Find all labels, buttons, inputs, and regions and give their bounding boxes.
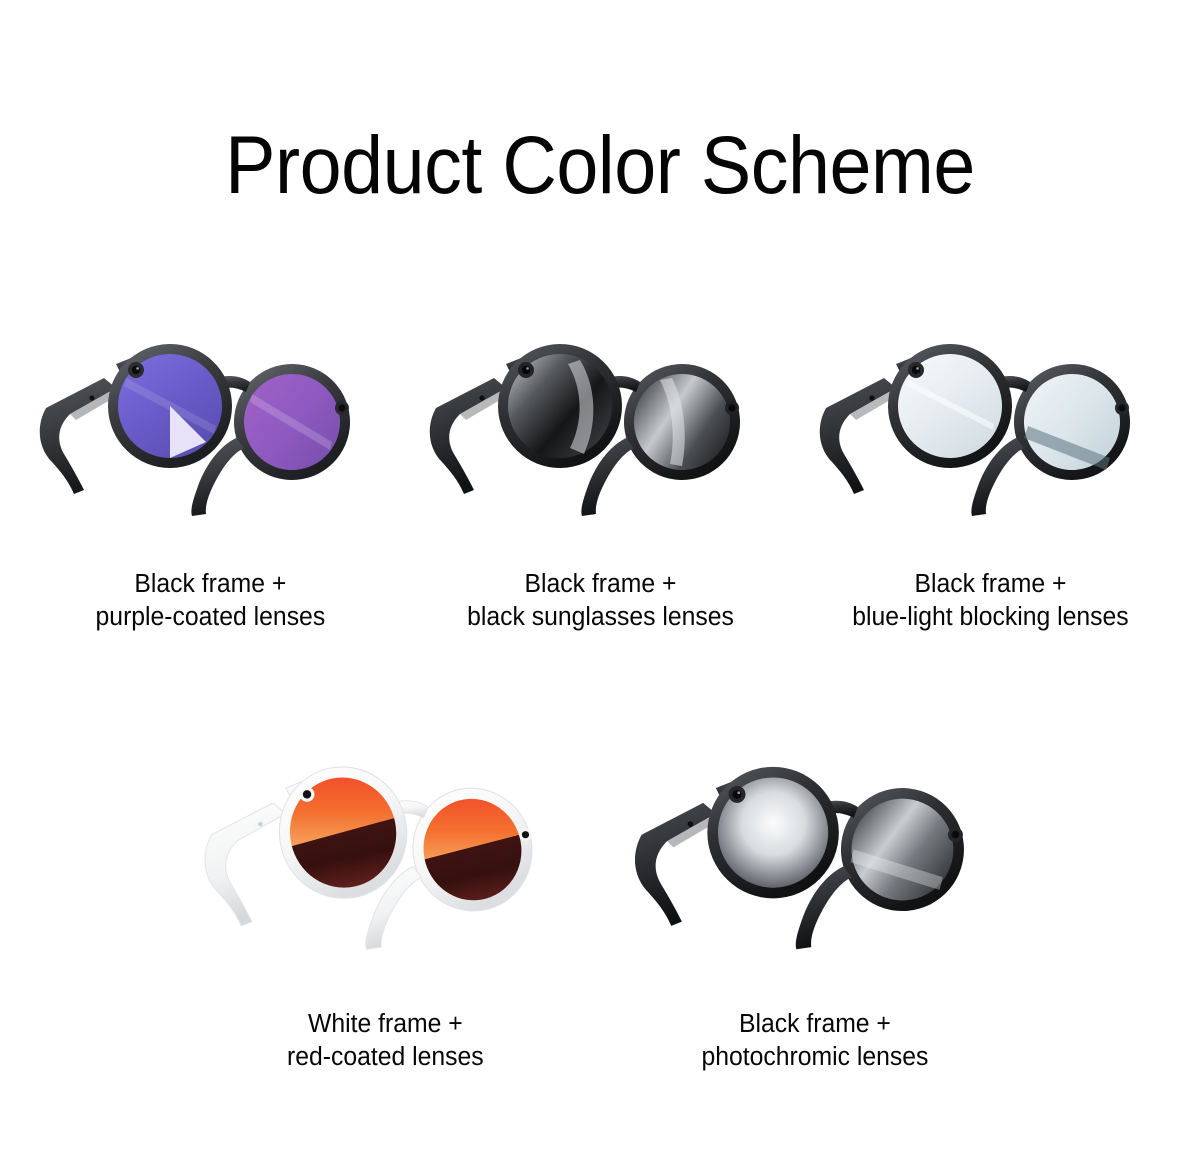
product-row-top: Black frame + purple-coated lenses — [0, 330, 1200, 633]
product-card-photochromic[interactable]: Black frame + photochromic lenses — [600, 752, 1030, 1073]
product-card-purple-coated[interactable]: Black frame + purple-coated lenses — [15, 330, 405, 633]
far-lens-group — [610, 350, 753, 493]
page-title: Product Color Scheme — [48, 124, 1152, 208]
product-row-bottom: White frame + red-coated lenses — [0, 752, 1200, 1073]
glasses-image-black-sunglasses — [420, 330, 780, 562]
product-caption-blue-light-blocking: Black frame + blue-light blocking lenses — [852, 568, 1128, 633]
glasses-image-photochromic — [618, 752, 1013, 998]
right-camera-lens — [728, 404, 735, 411]
far-lens-glass — [839, 787, 965, 913]
product-card-black-sunglasses[interactable]: Black frame + black sunglasses lenses — [405, 330, 795, 633]
temple-indicator-dot — [869, 395, 874, 400]
camera-glint — [737, 791, 740, 794]
temple-indicator-dot — [89, 395, 94, 400]
temple-indicator-dot — [687, 821, 693, 827]
right-camera-lens — [951, 831, 959, 839]
camera-lens — [132, 366, 140, 374]
product-card-blue-light-blocking[interactable]: Black frame + blue-light blocking lenses — [795, 330, 1185, 633]
far-lens-group — [398, 774, 546, 925]
camera-lens — [912, 366, 920, 374]
left-temple-arm — [204, 803, 285, 926]
camera-lens — [732, 790, 741, 799]
glasses-image-purple-coated — [30, 330, 390, 562]
right-camera-lens — [521, 831, 528, 838]
camera-lens — [302, 790, 310, 798]
far-lens-group — [1000, 350, 1143, 493]
product-color-scheme-page: Product Color Scheme — [0, 0, 1200, 1173]
far-lens-glass — [1013, 363, 1132, 482]
right-camera-lens — [338, 404, 345, 411]
camera-lens — [522, 366, 530, 374]
product-card-red-coated[interactable]: White frame + red-coated lenses — [170, 752, 600, 1073]
glasses-image-red-coated — [188, 752, 583, 998]
product-caption-black-sunglasses: Black frame + black sunglasses lenses — [467, 568, 734, 633]
temple-indicator-dot — [479, 395, 484, 400]
temple-indicator-dot — [258, 822, 263, 827]
camera-glint — [916, 367, 919, 370]
product-caption-photochromic: Black frame + photochromic lenses — [702, 1008, 929, 1073]
product-caption-red-coated: White frame + red-coated lenses — [287, 1008, 484, 1073]
camera-glint — [526, 367, 529, 370]
glasses-image-blue-light-blocking — [810, 330, 1170, 562]
product-caption-purple-coated: Black frame + purple-coated lenses — [95, 568, 325, 633]
right-camera-lens — [1118, 404, 1125, 411]
far-lens-group — [826, 773, 978, 925]
far-lens-group — [220, 350, 363, 493]
camera-glint — [136, 367, 139, 370]
